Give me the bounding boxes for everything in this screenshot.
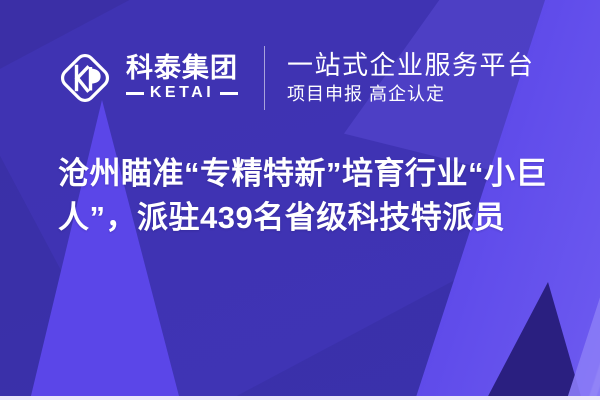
brand-wordmark: 科泰集团 KETAI bbox=[126, 55, 238, 101]
sliver-right-shape bbox=[564, 228, 600, 400]
banner-headline: 沧州瞄准“专精特新”培育行业“小巨人”，派驻439名省级科技特派员 bbox=[58, 152, 563, 240]
brand-lockup: 科泰集团 KETAI bbox=[56, 49, 238, 107]
promotional-banner: 科泰集团 KETAI 一站式企业服务平台 项目申报 高企认定 沧州瞄准“专精特新… bbox=[0, 0, 600, 400]
triangle-lavender-left-shape bbox=[30, 100, 180, 400]
brand-name-cn: 科泰集团 bbox=[126, 55, 238, 82]
ketai-logo-icon bbox=[56, 49, 114, 107]
highlight-edge-shape bbox=[585, 266, 600, 400]
brand-name-en-row: KETAI bbox=[126, 85, 238, 101]
tagline-secondary: 项目申报 高企认定 bbox=[287, 85, 535, 104]
tagline-group: 一站式企业服务平台 项目申报 高企认定 bbox=[287, 52, 535, 104]
tagline-primary: 一站式企业服务平台 bbox=[287, 52, 535, 79]
wordmark-rule-right bbox=[220, 92, 238, 95]
banner-header: 科泰集团 KETAI 一站式企业服务平台 项目申报 高企认定 bbox=[56, 42, 566, 114]
bottom-strip bbox=[0, 396, 600, 400]
header-divider bbox=[264, 46, 265, 110]
brand-name-en: KETAI bbox=[150, 85, 214, 101]
triangle-navy-bottom-right-shape bbox=[486, 282, 582, 400]
wordmark-rule-left bbox=[126, 92, 144, 95]
